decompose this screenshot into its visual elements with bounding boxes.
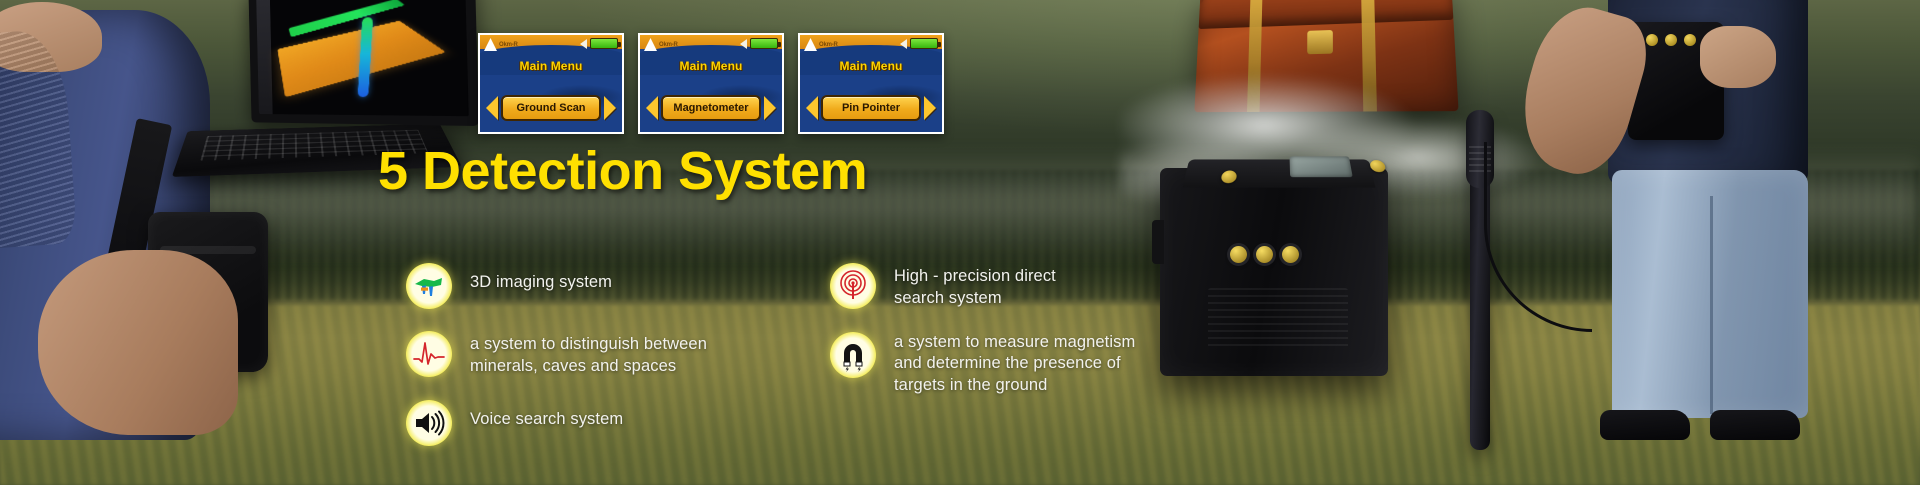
magnet-glyph — [836, 338, 870, 372]
laptop-lid — [248, 0, 479, 126]
control-unit-knob — [1369, 160, 1387, 172]
promo-banner: Okm-R Main Menu Ground Scan Okm-R — [0, 0, 1920, 485]
chest-gold-band — [1361, 0, 1377, 112]
control-unit-button — [1282, 246, 1299, 263]
panel-status-indicators — [900, 38, 938, 49]
prev-arrow-icon[interactable] — [486, 96, 498, 120]
feature-label: a system to measure magnetism and determ… — [894, 332, 1135, 397]
operator-right-shoe — [1710, 410, 1800, 440]
headline: 5 Detection System — [378, 140, 867, 202]
feature-label: 3D imaging system — [470, 263, 612, 294]
chest-lid — [1199, 0, 1454, 29]
control-unit-display — [1290, 156, 1353, 177]
feature-item-magnetism-measurement: a system to measure magnetism and determ… — [830, 332, 1250, 397]
speaker-icon — [740, 39, 747, 49]
operator-right-shoe — [1600, 410, 1690, 440]
panel-mode-selector: Magnetometer — [646, 95, 776, 121]
feature-item-voice-search: Voice search system — [406, 400, 806, 446]
brand-logo-text: Okm-R — [819, 42, 838, 48]
panel-mode-selector: Pin Pointer — [806, 95, 936, 121]
feature-list-left: 3D imaging system a system to distinguis… — [406, 263, 806, 468]
feature-list-right: High - precision direct search system a … — [830, 263, 1250, 419]
operator-right — [1550, 0, 1910, 485]
next-arrow-icon[interactable] — [604, 96, 616, 120]
speaker-icon — [406, 400, 452, 446]
signal-target-glyph — [836, 269, 870, 303]
handheld-knob — [1665, 34, 1677, 46]
operator-right-jeans — [1612, 170, 1808, 418]
device-panel-magnetometer[interactable]: Okm-R Main Menu Magnetometer — [638, 33, 784, 134]
3d-imaging-icon — [406, 263, 452, 309]
software-toolbar — [256, 0, 272, 114]
panel-brand-logo: Okm-R — [804, 37, 838, 52]
control-unit-top-panel — [1182, 159, 1375, 187]
mode-button[interactable]: Magnetometer — [661, 95, 761, 121]
mode-button[interactable]: Ground Scan — [501, 95, 601, 121]
prev-arrow-icon[interactable] — [806, 96, 818, 120]
treasure-chest — [1194, 0, 1458, 112]
brand-mark-icon — [644, 38, 657, 51]
laptop-screen — [256, 0, 469, 116]
speaker-icon — [580, 39, 587, 49]
battery-icon — [910, 38, 938, 49]
feature-item-mineral-discrimination: a system to distinguish between minerals… — [406, 331, 806, 378]
panel-status-indicators — [740, 38, 778, 49]
mode-button[interactable]: Pin Pointer — [821, 95, 921, 121]
next-arrow-icon[interactable] — [764, 96, 776, 120]
operator-right-hand — [1700, 26, 1776, 88]
control-unit-button — [1256, 246, 1273, 263]
left-scene-operator-with-laptop — [0, 0, 470, 440]
device-panel-ground-scan[interactable]: Okm-R Main Menu Ground Scan — [478, 33, 624, 134]
signal-target-icon — [830, 263, 876, 309]
feature-label: High - precision direct search system — [894, 263, 1056, 310]
control-unit-knob — [1220, 171, 1237, 184]
3d-imaging-glyph — [412, 269, 446, 303]
handheld-knob — [1646, 34, 1658, 46]
panel-title: Main Menu — [640, 59, 782, 73]
control-unit-button — [1230, 246, 1247, 263]
control-unit-handle — [1152, 220, 1164, 264]
panel-brand-logo: Okm-R — [644, 37, 678, 52]
device-menu-panels: Okm-R Main Menu Ground Scan Okm-R — [478, 33, 944, 134]
panel-mode-selector: Ground Scan — [486, 95, 616, 121]
chest-gold-band — [1247, 0, 1263, 112]
device-panel-pin-pointer[interactable]: Okm-R Main Menu Pin Pointer — [798, 33, 944, 134]
feature-label: Voice search system — [470, 400, 623, 431]
feature-label: a system to distinguish between minerals… — [470, 331, 707, 378]
feature-item-high-precision-search: High - precision direct search system — [830, 263, 1250, 310]
panel-brand-logo: Okm-R — [484, 37, 518, 52]
battery-icon — [590, 38, 618, 49]
pulse-waveform-icon — [406, 331, 452, 377]
magnet-icon — [830, 332, 876, 378]
control-unit-button-row — [1230, 246, 1299, 263]
feature-item-3d-imaging: 3D imaging system — [406, 263, 806, 309]
brand-logo-text: Okm-R — [659, 42, 678, 48]
handheld-knob-row — [1646, 34, 1696, 46]
operator-left-arm — [38, 250, 238, 435]
chest-lock — [1307, 30, 1333, 54]
handheld-knob — [1684, 34, 1696, 46]
panel-title: Main Menu — [480, 59, 622, 73]
speaker-glyph — [412, 406, 446, 440]
brand-mark-icon — [804, 38, 817, 51]
battery-icon — [750, 38, 778, 49]
prev-arrow-icon[interactable] — [646, 96, 658, 120]
brand-logo-text: Okm-R — [499, 42, 518, 48]
pulse-waveform-glyph — [412, 337, 446, 371]
panel-status-indicators — [580, 38, 618, 49]
next-arrow-icon[interactable] — [924, 96, 936, 120]
brand-mark-icon — [484, 38, 497, 51]
speaker-icon — [900, 39, 907, 49]
panel-title: Main Menu — [800, 59, 942, 73]
